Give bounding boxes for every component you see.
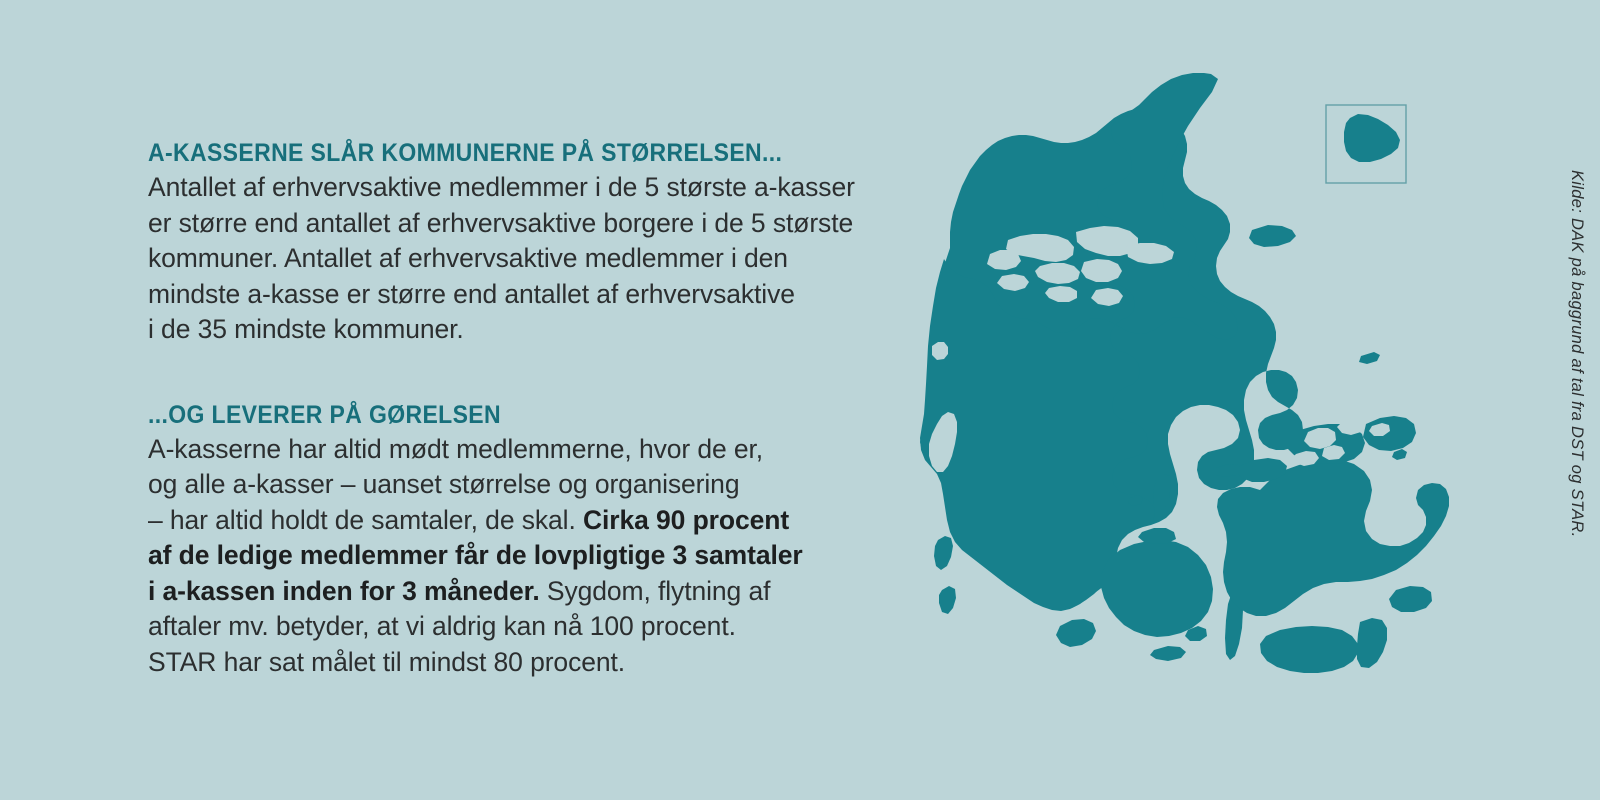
romo-island [939, 586, 956, 614]
body-segment: aftaler mv. betyder, at vi aldrig kan nå… [148, 611, 736, 641]
body-segment: A-kasserne har altid mødt medlemmerne, h… [148, 434, 763, 464]
funen-north-spit [1138, 528, 1176, 544]
denmark-map [880, 70, 1480, 710]
body-segment: STAR har sat målet til mindst 80 procent… [148, 647, 625, 677]
mon-island [1389, 586, 1432, 612]
body-segment: – har altid holdt de samtaler, de skal. [148, 505, 583, 535]
block-two-heading: ...OG LEVERER PÅ GØRELSEN [148, 400, 847, 430]
body-line: Antallet af erhvervsaktive medlemmer i d… [148, 172, 855, 202]
body-segment-bold: Cirka 90 procent [583, 505, 789, 535]
aero-island [1150, 646, 1186, 661]
bornholm-island [1344, 114, 1400, 162]
small-island-kattegat [1392, 449, 1407, 460]
body-segment: Sygdom, flytning af [540, 576, 771, 606]
block-one-body: Antallet af erhvervsaktive medlemmer i d… [148, 170, 908, 348]
als-island [1056, 619, 1096, 647]
body-line: i de 35 mindste kommuner. [148, 314, 464, 344]
zealand-northeast-cape [1363, 416, 1416, 451]
laeso-island [1249, 225, 1296, 247]
infographic-canvas: A-KASSERNE SLÅR KOMMUNERNE PÅ STØRRELSEN… [0, 0, 1600, 800]
map-land-group [920, 73, 1449, 673]
text-column: A-KASSERNE SLÅR KOMMUNERNE PÅ STØRRELSEN… [148, 138, 908, 680]
body-segment: og alle a-kasser – uanset størrelse og o… [148, 469, 739, 499]
fano-island [934, 536, 953, 570]
content-block-one: A-KASSERNE SLÅR KOMMUNERNE PÅ STØRRELSEN… [148, 138, 908, 348]
source-credit: Kilde: DAK på baggrund af tal fra DST og… [1567, 170, 1586, 538]
body-line: er større end antallet af erhvervsaktive… [148, 208, 853, 238]
funen-island [1101, 540, 1213, 637]
block-one-heading: A-KASSERNE SLÅR KOMMUNERNE PÅ STØRRELSEN… [148, 138, 847, 168]
lolland-island [1260, 626, 1358, 673]
block-two-body: A-kasserne har altid mødt medlemmerne, h… [148, 432, 908, 681]
body-line: mindste a-kasse er større end antallet a… [148, 279, 795, 309]
falster-island [1357, 618, 1387, 668]
body-segment-bold: af de ledige medlemmer får de lovpligtig… [148, 540, 803, 570]
content-block-two: ...OG LEVERER PÅ GØRELSEN A-kasserne har… [148, 400, 908, 681]
body-line: kommuner. Antallet af erhvervsaktive med… [148, 243, 788, 273]
anholt-island [1359, 352, 1380, 364]
body-segment-bold: i a-kassen inden for 3 måneder. [148, 576, 540, 606]
